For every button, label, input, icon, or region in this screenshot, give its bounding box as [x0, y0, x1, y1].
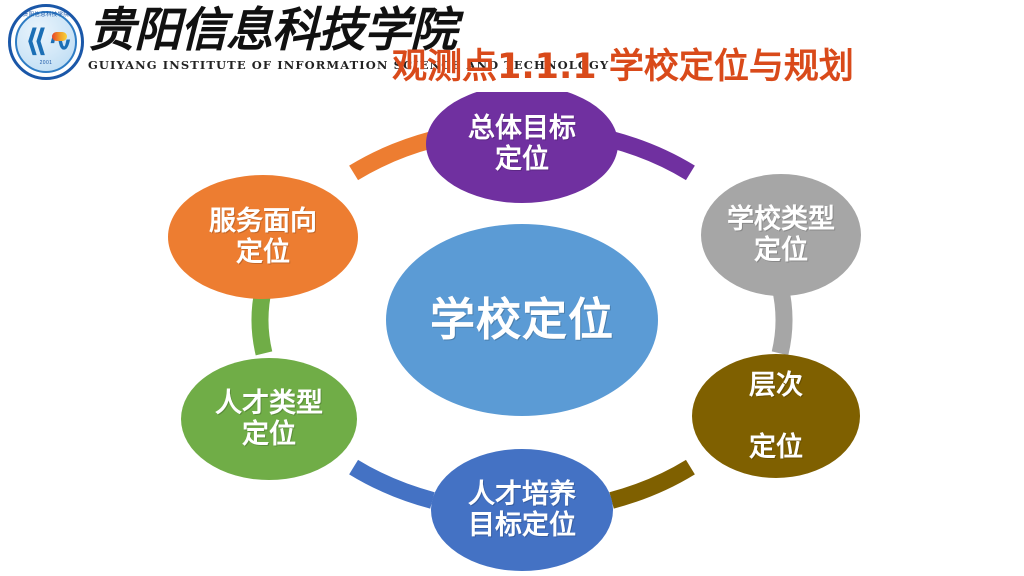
slide-canvas: 贵阳信息科技学院 ⟪∿ 2001 贵阳信息科技学院 GUIYANG INSTIT…	[0, 0, 1024, 576]
arc-service-to-overall	[354, 140, 433, 173]
cycle-node-service-facing[interactable]	[168, 175, 358, 299]
page-title: 观测点1.1.1 学校定位与规划	[392, 46, 854, 88]
crest-swoosh-glyph: ⟪∿	[25, 24, 67, 58]
crest-year: 2001	[8, 60, 84, 66]
cycle-node-talent-type[interactable]	[181, 358, 357, 480]
cycle-node-talent-goal[interactable]	[431, 449, 613, 571]
cycle-diagram: 总体目标 定位学校类型 定位层次 定位人才培养 目标定位人才类型 定位服务面向 …	[0, 92, 1024, 576]
arc-goal-to-talent	[354, 467, 433, 500]
arc-level-to-goal	[612, 467, 691, 500]
cycle-node-school-type[interactable]	[701, 174, 861, 296]
arc-overall-to-type	[612, 140, 691, 173]
wordmark-english: GUIYANG INSTITUTE OF INFORMATION SCIENCE…	[88, 58, 418, 72]
wordmark-chinese: 贵阳信息科技学院	[88, 2, 418, 60]
arc-type-to-level	[780, 287, 784, 354]
university-crest-icon: 贵阳信息科技学院 ⟪∿ 2001	[8, 4, 84, 80]
crest-arc-text: 贵阳信息科技学院	[8, 10, 84, 18]
cycle-center-node[interactable]	[386, 224, 658, 416]
crest-flame-dot	[52, 32, 67, 41]
cycle-node-level[interactable]	[692, 354, 860, 478]
cycle-node-overall-goal[interactable]	[426, 92, 618, 203]
university-wordmark: 贵阳信息科技学院 GUIYANG INSTITUTE OF INFORMATIO…	[88, 2, 418, 86]
slide-header: 贵阳信息科技学院 ⟪∿ 2001 贵阳信息科技学院 GUIYANG INSTIT…	[0, 0, 1024, 92]
